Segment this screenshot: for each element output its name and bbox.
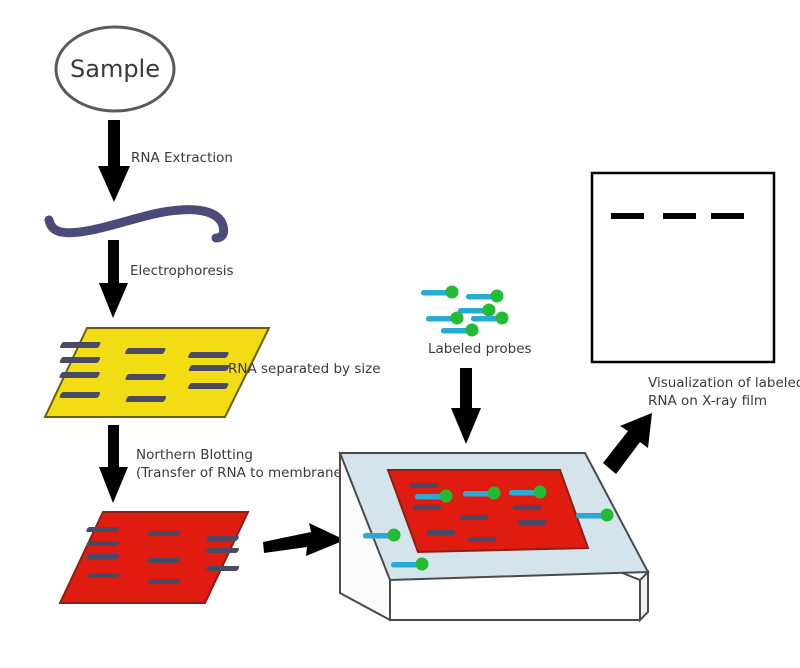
labeled-probe (426, 312, 464, 325)
label-northern-blotting-2: (Transfer of RNA to membrane) (136, 465, 347, 481)
diagram-canvas: Sample RNA Extraction Electrophoresis (0, 0, 800, 668)
film-surface (592, 173, 774, 362)
arrow-northern-blotting (99, 425, 128, 503)
sample-label: Sample (70, 55, 160, 83)
xray-film (592, 173, 774, 362)
rna-squiggle-icon (49, 210, 224, 238)
labeled-probe (441, 324, 479, 337)
labeled-probe (421, 286, 459, 299)
label-visualization-2: RNA on X-ray film (648, 393, 767, 409)
label-rna-extraction: RNA Extraction (131, 150, 233, 166)
label-labeled-probes: Labeled probes (428, 341, 532, 357)
tray-right-wall (640, 572, 648, 620)
arrow-probes-to-tray (451, 368, 481, 444)
labeled-probes-group (421, 286, 509, 337)
arrow-electrophoresis (99, 240, 128, 318)
film-band (611, 213, 644, 219)
label-northern-blotting-1: Northern Blotting (136, 447, 253, 463)
sample-node: Sample (56, 27, 174, 111)
label-visualization-1: Visualization of labeled (648, 375, 800, 391)
arrow-to-hybridization (263, 523, 345, 556)
label-electrophoresis: Electrophoresis (130, 263, 234, 279)
film-band (711, 213, 744, 219)
label-rna-separated: RNA separated by size (228, 361, 381, 377)
arrow-rna-extraction (98, 120, 130, 202)
film-bands (611, 213, 744, 219)
labeled-probe (466, 290, 504, 303)
labeled-probe (458, 304, 496, 317)
film-band (663, 213, 696, 219)
nylon-membrane (60, 512, 248, 603)
hybridization-tray (340, 453, 648, 620)
gel-lane-3-bands (187, 352, 230, 389)
arrow-to-visualization (603, 413, 652, 474)
